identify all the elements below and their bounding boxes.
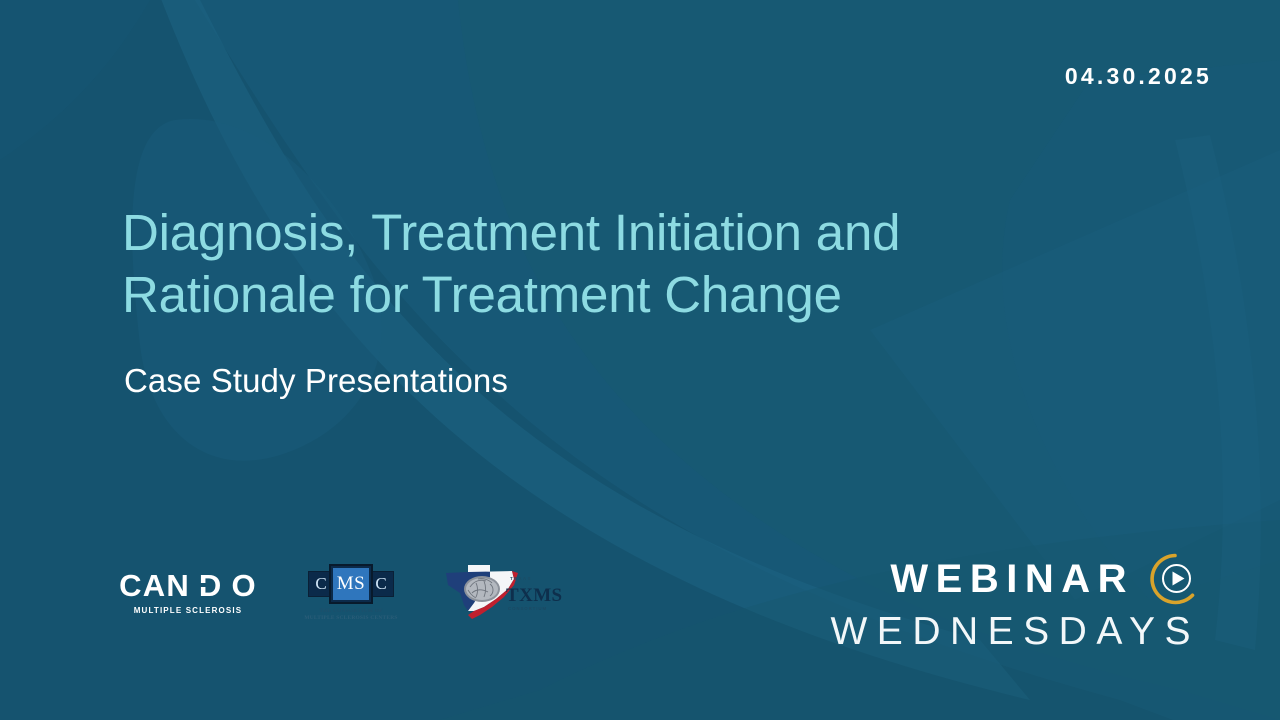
cando-word-can: CAN xyxy=(119,570,190,601)
cmsc-logo-mark: C MS C xyxy=(308,563,394,605)
cmsc-logo: C MS C THE CONSORTIUM OF MULTIPLE SCLERO… xyxy=(292,563,410,622)
cando-word-d: D xyxy=(199,570,223,601)
webinar-wordmark: WEBINAR xyxy=(890,558,1134,600)
presentation-title-slide: 04.30.2025 Diagnosis, Treatment Initiati… xyxy=(0,0,1280,720)
cmsc-caption: THE CONSORTIUM OF MULTIPLE SCLEROSIS CEN… xyxy=(304,608,397,622)
txms-bottom-text: CONSORTIUM xyxy=(508,606,547,611)
cando-wordmark: CAN DO xyxy=(119,570,257,601)
play-button-icon xyxy=(1148,552,1202,606)
page-title-line-1: Diagnosis, Treatment Initiation and xyxy=(122,202,1102,264)
txms-top-text: TEXAS xyxy=(510,576,532,581)
cando-multiple-sclerosis-logo: CAN DO MULTIPLE SCLEROSIS xyxy=(108,570,268,615)
txms-wordmark: TXMS xyxy=(506,586,563,605)
cando-tagline: MULTIPLE SCLEROSIS xyxy=(134,606,243,615)
cmsc-center-letters: MS xyxy=(333,568,369,600)
page-title-line-2: Rationale for Treatment Change xyxy=(122,264,1102,326)
page-subtitle: Case Study Presentations xyxy=(124,360,508,402)
title-block: Diagnosis, Treatment Initiation and Rati… xyxy=(122,202,1102,326)
cando-word-o: O xyxy=(232,570,257,601)
partner-logo-strip: CAN DO MULTIPLE SCLEROSIS C MS C THE CON… xyxy=(108,552,564,632)
txms-logo: TEXAS TXMS CONSORTIUM xyxy=(434,559,564,625)
webinar-date: 04.30.2025 xyxy=(1065,63,1212,90)
webinar-wednesdays-logo: WEBINAR WEDNESDAYS xyxy=(782,552,1202,656)
wednesdays-wordmark: WEDNESDAYS xyxy=(782,608,1202,656)
cmsc-center-box: MS xyxy=(329,564,373,604)
cmsc-caption-line-2: MULTIPLE SCLEROSIS CENTERS xyxy=(304,615,397,622)
webinar-wednesdays-row-1: WEBINAR xyxy=(782,552,1202,606)
cmsc-caption-line-1: THE CONSORTIUM OF xyxy=(304,608,397,615)
